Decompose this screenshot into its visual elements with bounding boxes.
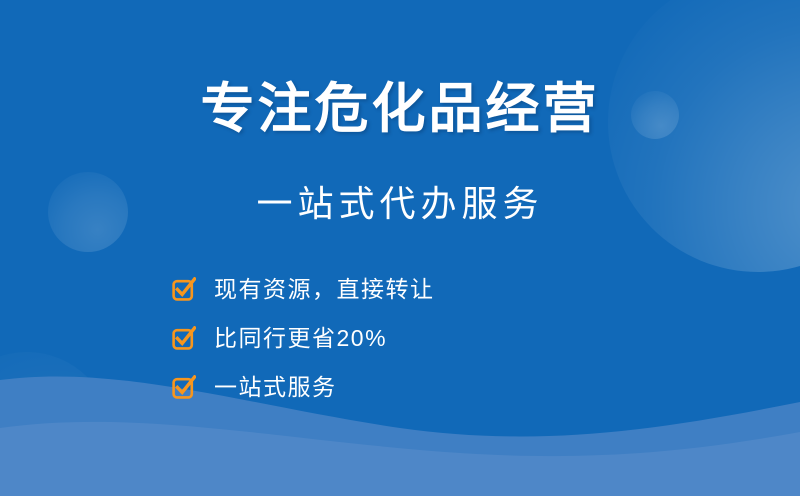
banner-headline: 专注危化品经营 (0, 82, 800, 136)
feature-list-item: 一站式服务 (172, 374, 435, 400)
promotional-banner: 专注危化品经营 一站式代办服务 现有资源，直接转让 比同行更省20% (0, 0, 800, 496)
feature-label: 一站式服务 (214, 374, 337, 400)
feature-list-item: 现有资源，直接转让 (172, 276, 435, 302)
feature-list: 现有资源，直接转让 比同行更省20% 一站式服务 (172, 276, 435, 400)
feature-label: 现有资源，直接转让 (214, 276, 435, 302)
banner-content: 专注危化品经营 一站式代办服务 现有资源，直接转让 比同行更省20% (0, 0, 800, 496)
checkbox-checked-icon (172, 277, 196, 301)
banner-subheadline: 一站式代办服务 (0, 186, 800, 222)
checkbox-checked-icon (172, 375, 196, 399)
feature-list-item: 比同行更省20% (172, 325, 435, 351)
checkbox-checked-icon (172, 326, 196, 350)
feature-label: 比同行更省20% (214, 325, 387, 351)
